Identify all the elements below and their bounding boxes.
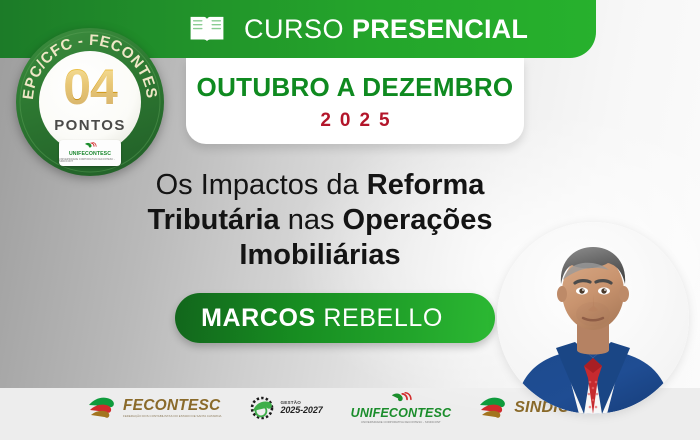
flame-swoosh-mark: [88, 396, 118, 420]
header-title: CURSO PRESENCIAL: [244, 16, 528, 43]
badge-unifecontesc-name: UNIFECONTESC: [69, 152, 111, 157]
header-title-emphasis: PRESENCIAL: [352, 14, 528, 44]
open-book-icon: [188, 14, 226, 44]
speaker-photo: [497, 222, 689, 414]
header-title-prefix: CURSO: [244, 14, 352, 44]
logo-fecontesc-tagline: FEDERAÇÃO DOS CONTABILISTAS DO ESTADO DE…: [123, 415, 221, 418]
badge-unifecontesc-tagline: UNIVERSIDADE CORPORATIVA FECONTESC - SIN…: [59, 159, 121, 164]
date-range: OUTUBRO A DEZEMBRO: [197, 74, 514, 100]
speaker-name: MARCOS REBELLO: [201, 306, 469, 331]
course-banner: CURSO PRESENCIAL OUTUBRO A DEZEMBRO 2025: [0, 0, 700, 440]
badge-unifecontesc-logo: UNIFECONTESC UNIVERSIDADE CORPORATIVA FE…: [59, 140, 121, 166]
speaker-name-pill: MARCOS REBELLO: [175, 293, 495, 343]
date-card: OUTUBRO A DEZEMBRO 2025: [186, 58, 524, 144]
points-badge: PEPC/CFC - FECONTESC 04 PONTOS UNIFECONT…: [14, 26, 166, 178]
logo-gestao: GESTÃO 2025-2027: [249, 395, 322, 421]
flame-swoosh-mark: [479, 396, 509, 420]
gear-swoosh-mark: [249, 395, 275, 421]
logo-unifecontesc: UNIFECONTESC UNIVERSIDADE CORPORATIVA FE…: [351, 392, 452, 424]
logo-fecontesc-name: FECONTESC: [123, 398, 221, 414]
logo-unifecontesc-name: UNIFECONTESC: [351, 407, 452, 420]
logo-unifecontesc-tagline: UNIVERSIDADE CORPORATIVA FECONTESC - SIN…: [361, 421, 441, 424]
speaker-portrait-illustration: [497, 222, 689, 414]
speaker-last-name: REBELLO: [316, 304, 443, 332]
logo-gestao-years: 2025-2027: [280, 406, 322, 415]
date-year: 2025: [311, 111, 398, 130]
swoosh-burst-mark: [390, 392, 412, 407]
speaker-first-name: MARCOS: [201, 304, 316, 332]
swoosh-burst-mark: [84, 142, 97, 151]
logo-fecontesc: FECONTESC FEDERAÇÃO DOS CONTABILISTAS DO…: [88, 396, 221, 420]
